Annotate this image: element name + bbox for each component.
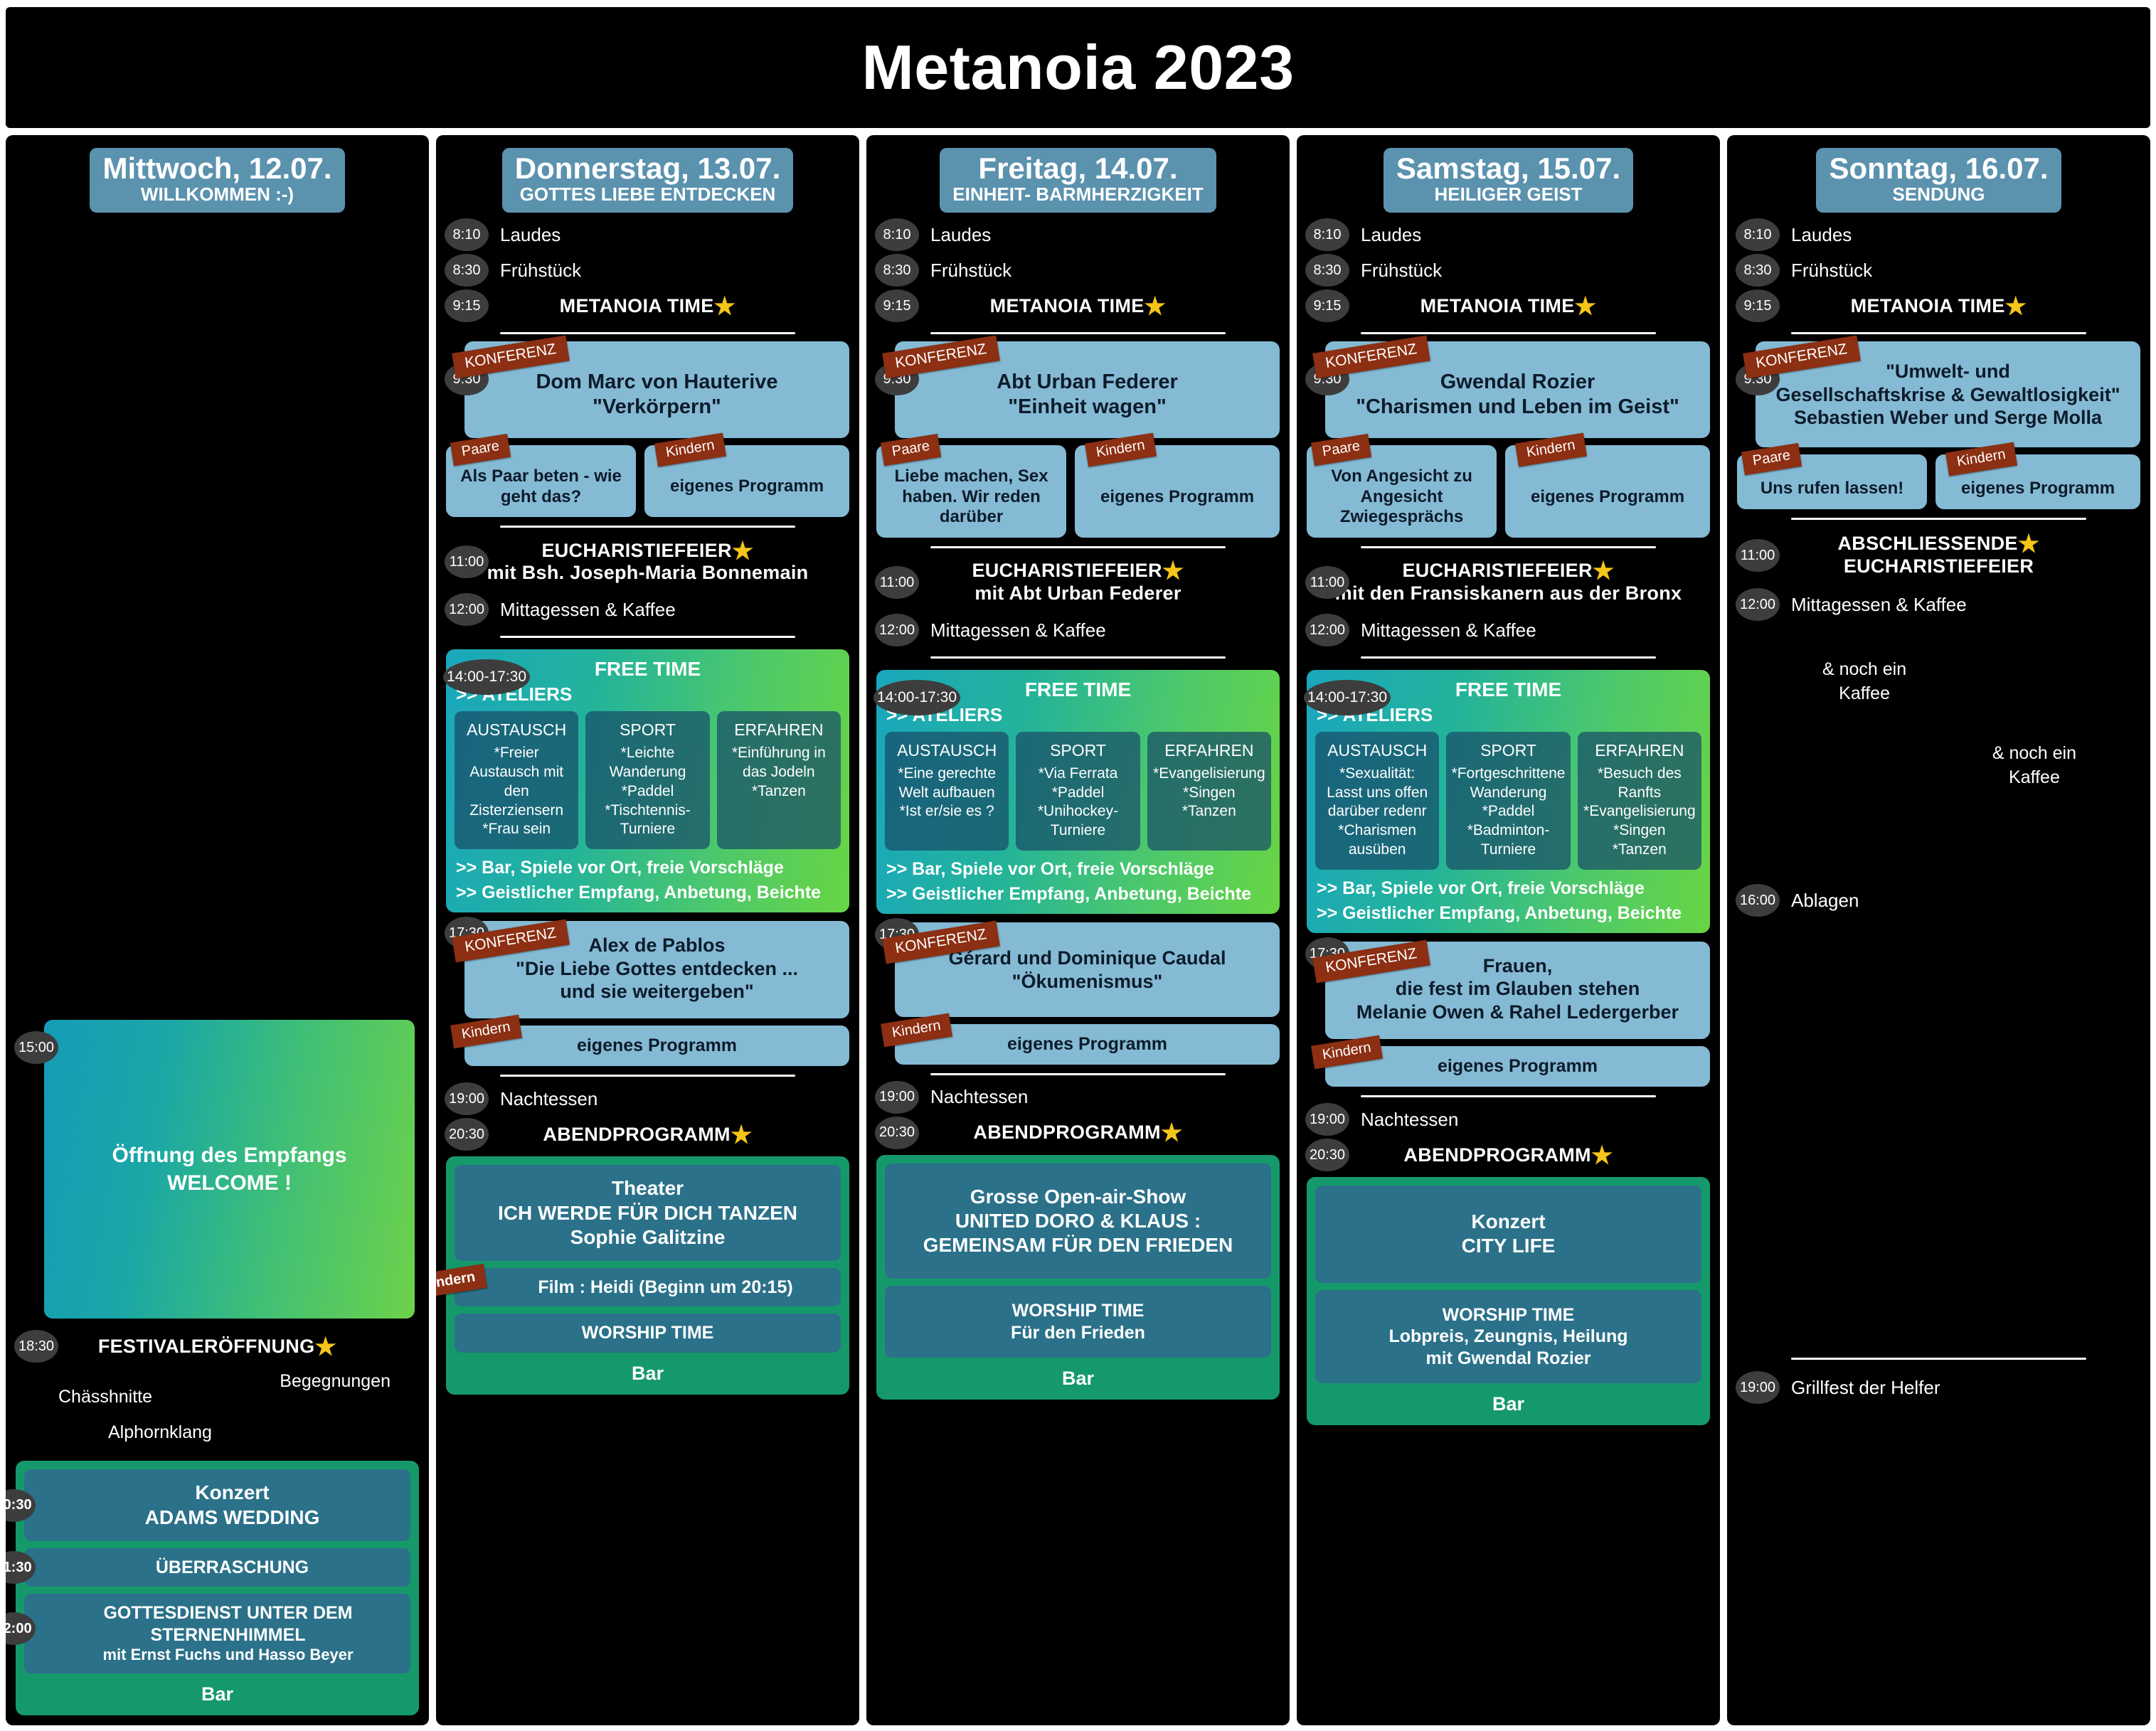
schedule-row-metanoia-time: 9:15 METANOIA TIME★: [1307, 291, 1710, 321]
schedule-row-laudes: 8:10 Laudes: [446, 220, 849, 250]
time-pill: 11:00: [1305, 566, 1349, 599]
bar-label: Bar: [24, 1681, 410, 1707]
time-pill: 12:00: [445, 593, 489, 626]
evening-film: Kindern Film : Heidi (Beginn um 20:15): [455, 1268, 841, 1307]
star-icon: ★: [731, 1122, 753, 1149]
atelier-cards: AUSTAUSCH *Eine gerechte Welt aufbauen *…: [885, 732, 1271, 851]
conference-block: 9:30 KONFERENZ Abt Urban Federer "Einhei…: [876, 339, 1280, 438]
free-time-block: 14:00-17:30 FREE TIME >> ATELIERS AUSTAU…: [446, 649, 849, 912]
welcome-block: 15:00 Öffnung des Empfangs WELCOME !: [16, 1013, 419, 1319]
evening-header-label: ABENDPROGRAMM★: [876, 1122, 1280, 1144]
time-pill: 21:30: [6, 1551, 36, 1584]
schedule-row-mass: 11:00 EUCHARISTIEFEIER★ mit Bsh. Joseph-…: [446, 535, 849, 589]
conference-speaker: Dom Marc von Hauterive: [474, 370, 839, 395]
day-theme: EINHEIT- BARMHERZIGKEIT: [952, 184, 1203, 206]
schedule-row-laudes: 8:10 Laudes: [1307, 220, 1710, 250]
schedule-row-grill: 19:00 Grillfest der Helfer: [1737, 1373, 2140, 1402]
divider: [500, 332, 795, 334]
row-label: METANOIA TIME★: [1737, 295, 2140, 317]
star-icon: ★: [1575, 293, 1597, 320]
evening-header-label: ABENDPROGRAMM★: [446, 1124, 849, 1146]
row-label: Mittagessen & Kaffee: [1791, 594, 1967, 616]
row-label: Mittagessen & Kaffee: [500, 599, 676, 621]
atelier-austausch: AUSTAUSCH *Freier Austausch mit den Zist…: [455, 711, 578, 849]
row-label: Laudes: [930, 224, 991, 246]
evening-main: Grosse Open-air-Show UNITED DORO & KLAUS…: [885, 1163, 1271, 1279]
evening-item: 22:00 GOTTESDIENST UNTER DEM STERNENHIMM…: [24, 1594, 410, 1673]
mass-label: EUCHARISTIEFEIER★ mit Abt Urban Federer: [876, 560, 1280, 605]
row-label: Mittagessen & Kaffee: [930, 619, 1106, 641]
row-label: Laudes: [1791, 224, 1852, 246]
schedule-row-lunch: 12:00 Mittagessen & Kaffee: [876, 615, 1280, 645]
schedule-row-dinner: 19:00 Nachtessen: [876, 1082, 1280, 1112]
evening-worship: WORSHIP TIME: [455, 1314, 841, 1353]
page-title: Metanoia 2023: [861, 31, 1294, 104]
row-label: METANOIA TIME★: [446, 295, 849, 317]
star-icon: ★: [1145, 293, 1167, 320]
atelier-sport: SPORT *Via Ferrata *Paddel *Unihockey- T…: [1016, 732, 1140, 851]
day-name: Freitag, 14.07.: [952, 152, 1203, 184]
star-icon: ★: [1162, 558, 1184, 585]
day-theme: GOTTES LIEBE ENTDECKEN: [515, 184, 780, 206]
evening-block: Konzert CITY LIFE WORSHIP TIME Lobpreis,…: [1307, 1177, 1710, 1425]
parallel-tracks: Paare Kindern Als Paar beten - wie geht …: [446, 445, 849, 518]
mass-label: EUCHARISTIEFEIER★ mit den Fransiskanern …: [1307, 560, 1710, 605]
schedule-page: Metanoia 2023 Mittwoch, 12.07. WILLKOMME…: [0, 0, 2156, 1731]
schedule-row-lunch: 12:00 Mittagessen & Kaffee: [1307, 615, 1710, 645]
row-label: Nachtessen: [930, 1086, 1028, 1108]
free-time-footer: >> Bar, Spiele vor Ort, freie Vorschläge…: [885, 858, 1271, 905]
time-pill: 20:30: [6, 1489, 36, 1522]
star-icon: ★: [1161, 1119, 1183, 1146]
kindern-card-2: eigenes Programm: [1325, 1046, 1710, 1087]
time-pill: 8:10: [445, 218, 489, 251]
star-icon: ★: [714, 293, 736, 320]
row-label: Laudes: [500, 224, 561, 246]
star-icon: ★: [1593, 558, 1615, 585]
day-column-freitag: Freitag, 14.07. EINHEIT- BARMHERZIGKEIT …: [866, 135, 1290, 1725]
time-pill: 9:15: [1305, 289, 1349, 322]
row-label: Grillfest der Helfer: [1791, 1377, 1940, 1399]
conference-speaker: Abt Urban Federer: [905, 370, 1270, 395]
divider: [1361, 656, 1656, 659]
time-pill: 8:10: [1736, 218, 1780, 251]
conference-block-2: 17:30 KONFERENZ Gérard und Dominique Cau…: [876, 920, 1280, 1017]
extra-alphornklang: Alphornklang: [108, 1422, 212, 1443]
day-column-samstag: Samstag, 15.07. HEILIGER GEIST 8:10 Laud…: [1297, 135, 1720, 1725]
divider: [1361, 1095, 1656, 1097]
extra-begegnungen: Begegnungen: [280, 1371, 391, 1392]
day-columns: Mittwoch, 12.07. WILLKOMMEN :-) 15:00 Öf…: [6, 135, 2150, 1725]
welcome-extras: Chässhnitte Begegnungen Alphornklang: [16, 1371, 419, 1456]
evening-line-1: Konzert: [61, 1481, 403, 1505]
schedule-row-laudes: 8:10 Laudes: [876, 220, 1280, 250]
row-label: Frühstück: [1791, 260, 1872, 282]
divider: [930, 332, 1226, 334]
divider: [930, 1073, 1226, 1075]
evening-line-1: ÜBERRASCHUNG: [61, 1557, 403, 1579]
time-pill: 8:10: [1305, 218, 1349, 251]
time-pill: 8:30: [1736, 254, 1780, 287]
evening-main: Konzert CITY LIFE: [1315, 1186, 1701, 1282]
evening-line-1: GOTTESDIENST UNTER DEM: [53, 1602, 403, 1624]
title-bar: Metanoia 2023: [6, 7, 2150, 128]
divider: [500, 526, 795, 528]
kindern-card-2: eigenes Programm: [464, 1026, 849, 1066]
row-label: METANOIA TIME★: [876, 295, 1280, 317]
day-name: Sonntag, 16.07.: [1829, 152, 2048, 184]
wednesday-evening-block: 20:30 Konzert ADAMS WEDDING 21:30 ÜBERRA…: [16, 1461, 419, 1715]
evening-block: Theater ICH WERDE FÜR DICH TANZEN Sophie…: [446, 1156, 849, 1394]
row-label: Laudes: [1361, 224, 1421, 246]
conference-block: 9:30 KONFERENZ Gwendal Rozier "Charismen…: [1307, 339, 1710, 438]
atelier-erfahren: ERFAHREN *Einführung in das Jodeln *Tanz…: [717, 711, 841, 849]
festival-opening-row: 18:30 FESTIVALERÖFFNUNG★: [16, 1331, 419, 1361]
kindern-card-2: eigenes Programm: [895, 1024, 1280, 1065]
kindern-block-2: Kindern eigenes Programm: [1307, 1039, 1710, 1087]
time-pill: 9:15: [875, 289, 919, 322]
conference-topic: "Charismen und Leben im Geist": [1335, 395, 1700, 420]
evening-line-2: ADAMS WEDDING: [61, 1506, 403, 1530]
time-pill: 8:30: [445, 254, 489, 287]
day-name: Donnerstag, 13.07.: [515, 152, 780, 184]
schedule-row-evening: 20:30 ABENDPROGRAMM★: [1307, 1140, 1710, 1170]
mass-sub: mit Bsh. Joseph-Maria Bonnemain: [446, 562, 849, 585]
star-icon: ★: [314, 1333, 336, 1360]
atelier-erfahren: ERFAHREN *Besuch des Ranfts *Evangelisie…: [1578, 732, 1701, 870]
parallel-tracks: Paare Kindern Liebe machen, Sex haben. W…: [876, 445, 1280, 538]
time-pill: 8:10: [875, 218, 919, 251]
evening-subline: mit Ernst Fuchs und Hasso Beyer: [53, 1646, 403, 1665]
divider: [1791, 1358, 2086, 1360]
time-pill: 20:30: [1305, 1139, 1349, 1171]
atelier-sport: SPORT *Fortgeschrittene Wanderung *Padde…: [1446, 732, 1570, 870]
day-name: Mittwoch, 12.07.: [102, 152, 331, 184]
row-label: Mittagessen & Kaffee: [1361, 619, 1536, 641]
time-pill: 14:00-17:30: [1304, 680, 1391, 715]
kindern-block-2: Kindern eigenes Programm: [446, 1018, 849, 1066]
time-pill: 12:00: [1305, 614, 1349, 646]
free-time-block: 14:00-17:30 FREE TIME >> ATELIERS AUSTAU…: [1307, 670, 1710, 933]
evening-worship: WORSHIP TIME Für den Frieden: [885, 1286, 1271, 1358]
welcome-line-1: Öffnung des Empfangs: [112, 1141, 347, 1169]
time-pill: 11:00: [1736, 539, 1780, 572]
day-header-freitag: Freitag, 14.07. EINHEIT- BARMHERZIGKEIT: [940, 148, 1216, 213]
conference-block-2: 17:30 KONFERENZ Alex de Pablos "Die Lieb…: [446, 918, 849, 1018]
row-label: METANOIA TIME★: [1307, 295, 1710, 317]
day-column-mittwoch: Mittwoch, 12.07. WILLKOMMEN :-) 15:00 Öf…: [6, 135, 429, 1725]
mass-label: ABSCHLIESSENDE★ EUCHARISTIEFEIER: [1737, 533, 2140, 578]
atelier-sport: SPORT *Leichte Wanderung *Paddel *Tischt…: [585, 711, 709, 849]
time-pill: 16:00: [1736, 884, 1780, 917]
evening-line-2: STERNENHIMMEL: [53, 1624, 403, 1646]
divider: [1791, 518, 2086, 520]
parallel-tracks: Paare Kindern Von Angesicht zu Angesicht…: [1307, 445, 1710, 538]
star-icon: ★: [2018, 531, 2040, 558]
coffee-notes: & noch ein Kaffee & noch ein Kaffee: [1737, 622, 2140, 836]
divider: [500, 1075, 795, 1077]
extra-chaesshnitte: Chässhnitte: [58, 1387, 152, 1407]
time-pill: 19:00: [875, 1081, 919, 1114]
divider: [1361, 332, 1656, 334]
row-label: Nachtessen: [500, 1088, 598, 1110]
day-column-sonntag: Sonntag, 16.07. SENDUNG 8:10 Laudes 8:30…: [1727, 135, 2150, 1725]
schedule-row-dinner: 19:00 Nachtessen: [446, 1084, 849, 1114]
schedule-row-final-mass: 11:00 ABSCHLIESSENDE★ EUCHARISTIEFEIER: [1737, 527, 2140, 584]
schedule-row-fruehstueck: 8:30 Frühstück: [876, 255, 1280, 285]
schedule-row-fruehstueck: 8:30 Frühstück: [446, 255, 849, 285]
schedule-row-lunch: 12:00 Mittagessen & Kaffee: [446, 595, 849, 624]
bar-label: Bar: [885, 1365, 1271, 1391]
day-theme: WILLKOMMEN :-): [102, 184, 331, 206]
evening-block: Grosse Open-air-Show UNITED DORO & KLAUS…: [876, 1155, 1280, 1400]
schedule-row-metanoia-time: 9:15 METANOIA TIME★: [1737, 291, 2140, 321]
time-pill: 20:30: [445, 1118, 489, 1151]
schedule-row-fruehstueck: 8:30 Frühstück: [1737, 255, 2140, 285]
schedule-row-evening: 20:30 ABENDPROGRAMM★: [876, 1118, 1280, 1148]
day-header-mittwoch: Mittwoch, 12.07. WILLKOMMEN :-): [90, 148, 344, 213]
schedule-row-fruehstueck: 8:30 Frühstück: [1307, 255, 1710, 285]
evening-worship: WORSHIP TIME Lobpreis, Zeungnis, Heilung…: [1315, 1290, 1701, 1384]
festival-opening-label: FESTIVALERÖFFNUNG★: [16, 1336, 419, 1358]
divider: [1361, 546, 1656, 548]
star-icon: ★: [732, 538, 754, 565]
divider: [500, 636, 795, 638]
bar-label: Bar: [455, 1360, 841, 1386]
time-pill: 12:00: [875, 614, 919, 646]
free-time-block: 14:00-17:30 FREE TIME >> ATELIERS AUSTAU…: [876, 670, 1280, 914]
day-theme: HEILIGER GEIST: [1396, 184, 1620, 206]
coffee-note-2: & noch ein Kaffee: [1992, 742, 2076, 790]
time-pill: 14:00-17:30: [873, 680, 960, 715]
day-column-donnerstag: Donnerstag, 13.07. GOTTES LIEBE ENTDECKE…: [436, 135, 859, 1725]
free-time-footer: >> Bar, Spiele vor Ort, freie Vorschläge…: [1315, 877, 1701, 925]
parallel-tracks: Paare Kindern Uns rufen lassen! eigenes …: [1737, 454, 2140, 509]
row-label: Frühstück: [500, 260, 581, 282]
schedule-row-mass: 11:00 EUCHARISTIEFEIER★ mit den Fransisk…: [1307, 555, 1710, 609]
time-pill: 19:00: [1305, 1103, 1349, 1136]
atelier-austausch: AUSTAUSCH *Eine gerechte Welt aufbauen *…: [885, 732, 1009, 851]
conference-topic: "Einheit wagen": [905, 395, 1270, 420]
coffee-note-1: & noch ein Kaffee: [1822, 658, 1906, 706]
mass-sub: mit den Fransiskanern aus der Bronx: [1307, 582, 1710, 605]
welcome-card: Öffnung des Empfangs WELCOME !: [44, 1020, 415, 1319]
star-icon: ★: [1591, 1142, 1613, 1169]
divider: [930, 656, 1226, 659]
schedule-row-dinner: 19:00 Nachtessen: [1307, 1104, 1710, 1134]
row-label: Nachtessen: [1361, 1109, 1458, 1131]
time-pill: 11:00: [445, 545, 489, 578]
evening-item: 20:30 Konzert ADAMS WEDDING: [24, 1469, 410, 1540]
day-header-donnerstag: Donnerstag, 13.07. GOTTES LIEBE ENTDECKE…: [502, 148, 793, 213]
time-pill: 18:30: [14, 1330, 58, 1363]
time-pill: 11:00: [875, 566, 919, 599]
free-time-footer: >> Bar, Spiele vor Ort, freie Vorschläge…: [455, 856, 841, 904]
day-header-samstag: Samstag, 15.07. HEILIGER GEIST: [1384, 148, 1633, 213]
time-pill: 20:30: [875, 1117, 919, 1149]
conference-block-2: 17:30 KONFERENZ Frauen, die fest im Glau…: [1307, 939, 1710, 1039]
evening-header-label: ABENDPROGRAMM★: [1307, 1144, 1710, 1166]
time-pill: 19:00: [445, 1082, 489, 1115]
schedule-row-mass: 11:00 EUCHARISTIEFEIER★ mit Abt Urban Fe…: [876, 555, 1280, 609]
time-pill: 8:30: [1305, 254, 1349, 287]
schedule-row-metanoia-time: 9:15 METANOIA TIME★: [446, 291, 849, 321]
divider: [930, 546, 1226, 548]
conference-block: 9:30 KONFERENZ "Umwelt- und Gesellschaft…: [1737, 339, 2140, 447]
time-pill: 19:00: [1736, 1371, 1780, 1404]
schedule-row-metanoia-time: 9:15 METANOIA TIME★: [876, 291, 1280, 321]
kindern-block-2: Kindern eigenes Programm: [876, 1017, 1280, 1065]
bar-label: Bar: [1315, 1390, 1701, 1417]
evening-main: Theater ICH WERDE FÜR DICH TANZEN Sophie…: [455, 1165, 841, 1260]
day-theme: SENDUNG: [1829, 184, 2048, 206]
conference-topic: "Verkörpern": [474, 395, 839, 420]
schedule-row-evening: 20:30 ABENDPROGRAMM★: [446, 1119, 849, 1149]
schedule-row-ablagen: 16:00 Ablagen: [1737, 885, 2140, 915]
star-icon: ★: [2005, 293, 2027, 320]
day-name: Samstag, 15.07.: [1396, 152, 1620, 184]
time-pill: 12:00: [1736, 588, 1780, 621]
time-pill: 9:15: [445, 289, 489, 322]
mass-label: EUCHARISTIEFEIER★ mit Bsh. Joseph-Maria …: [446, 540, 849, 585]
day-header-sonntag: Sonntag, 16.07. SENDUNG: [1816, 148, 2061, 213]
atelier-cards: AUSTAUSCH *Freier Austausch mit den Zist…: [455, 711, 841, 849]
time-pill: 9:15: [1736, 289, 1780, 322]
conference-block: 9:30 KONFERENZ Dom Marc von Hauterive "V…: [446, 339, 849, 438]
time-pill: 8:30: [875, 254, 919, 287]
conference-speaker: Gwendal Rozier: [1335, 370, 1700, 395]
row-label: Frühstück: [930, 260, 1011, 282]
atelier-austausch: AUSTAUSCH *Sexualität: Lasst uns offen d…: [1315, 732, 1439, 870]
atelier-erfahren: ERFAHREN *Evangelisierung *Singen *Tanze…: [1147, 732, 1271, 851]
evening-item: 21:30 ÜBERRASCHUNG: [24, 1548, 410, 1587]
atelier-cards: AUSTAUSCH *Sexualität: Lasst uns offen d…: [1315, 732, 1701, 870]
divider: [1791, 332, 2086, 334]
schedule-row-laudes: 8:10 Laudes: [1737, 220, 2140, 250]
row-label: Frühstück: [1361, 260, 1442, 282]
mass-sub: mit Abt Urban Federer: [876, 582, 1280, 605]
time-pill: 22:00: [6, 1612, 36, 1645]
schedule-row-lunch: 12:00 Mittagessen & Kaffee: [1737, 590, 2140, 619]
kindern-stamp: Kindern: [436, 1264, 487, 1299]
row-label: Ablagen: [1791, 890, 1859, 912]
welcome-line-2: WELCOME !: [112, 1169, 347, 1197]
